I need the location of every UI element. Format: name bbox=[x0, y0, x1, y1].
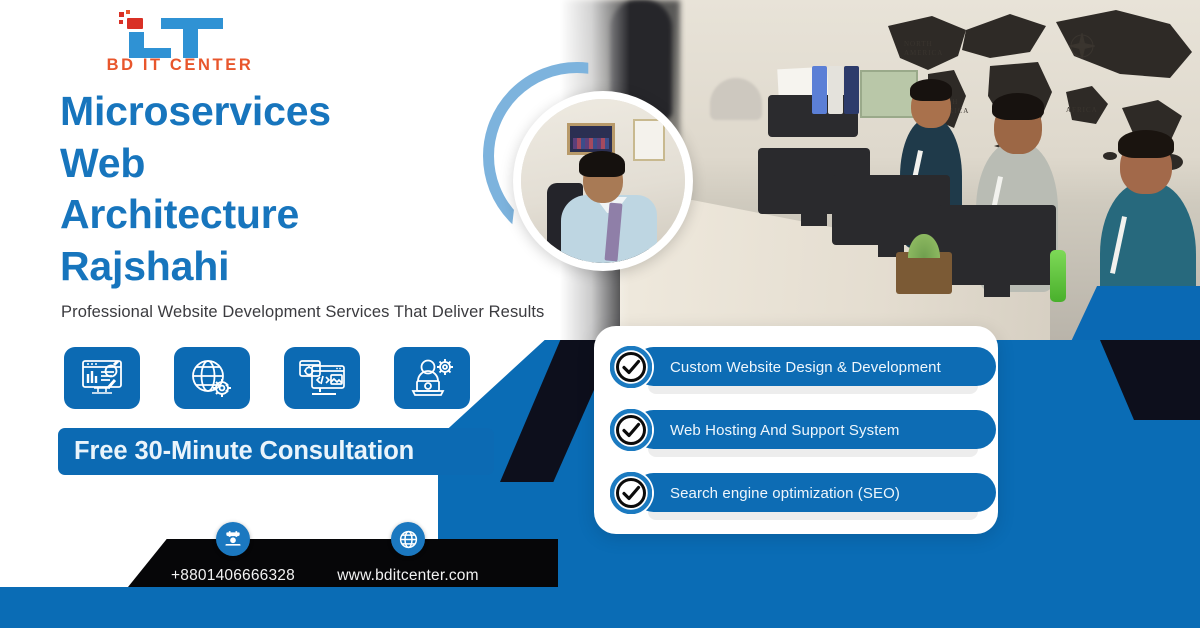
analytics-dashboard-wrench-icon bbox=[80, 359, 124, 397]
service-tile-analytics[interactable] bbox=[64, 347, 140, 409]
svg-text:AFRICA: AFRICA bbox=[1066, 106, 1098, 114]
office-bottle bbox=[1050, 250, 1066, 302]
feature-list-card: Custom Website Design & Development Web … bbox=[594, 326, 998, 534]
web-design-screens-icon bbox=[298, 358, 346, 398]
headline-line: Web bbox=[60, 140, 145, 186]
office-folder bbox=[828, 66, 843, 114]
pill-shadow bbox=[648, 386, 978, 394]
check-badge bbox=[608, 344, 654, 390]
svg-text:AMERICA: AMERICA bbox=[904, 49, 943, 57]
telephone-icon bbox=[223, 529, 243, 549]
check-circle-icon bbox=[610, 346, 652, 388]
office-folder bbox=[844, 66, 859, 114]
pill-shadow bbox=[648, 449, 978, 457]
feature-label: Custom Website Design & Development bbox=[670, 359, 941, 376]
portrait-image bbox=[521, 99, 685, 263]
lt-monogram-icon bbox=[117, 10, 229, 60]
website-badge bbox=[391, 522, 425, 556]
promotional-banner: NORTHAMERICA SOUTHAMERICA AFRICA OCEANIA bbox=[0, 0, 1200, 628]
pill-shadow bbox=[648, 512, 978, 520]
phone-number: +8801406666328 bbox=[170, 567, 296, 585]
check-circle-icon bbox=[610, 409, 652, 451]
feature-item[interactable]: Web Hosting And Support System bbox=[608, 407, 984, 453]
page-subtitle: Professional Website Development Service… bbox=[61, 303, 581, 322]
headline-line: Rajshahi bbox=[60, 243, 229, 289]
portrait-wall-photo bbox=[567, 123, 615, 155]
check-circle-icon bbox=[610, 472, 652, 514]
feature-item[interactable]: Custom Website Design & Development bbox=[608, 344, 984, 390]
portrait-certificate bbox=[633, 119, 665, 161]
brand-logo[interactable]: BD IT CENTER bbox=[95, 6, 265, 78]
support-agent-laptop-icon bbox=[410, 358, 454, 398]
service-tile-global[interactable] bbox=[174, 347, 250, 409]
service-icon-row bbox=[64, 347, 470, 409]
team-member-portrait bbox=[513, 91, 693, 271]
cta-consultation-button[interactable]: Free 30-Minute Consultation bbox=[58, 428, 494, 475]
service-tile-web-design[interactable] bbox=[284, 347, 360, 409]
check-badge bbox=[608, 407, 654, 453]
office-plant bbox=[896, 252, 952, 294]
website-url: www.bditcenter.com bbox=[333, 567, 483, 585]
headline-line: Microservices bbox=[60, 88, 331, 134]
svg-text:NORTH: NORTH bbox=[904, 40, 933, 48]
portrait-hair bbox=[579, 151, 625, 177]
office-folder bbox=[812, 66, 827, 114]
globe-gear-icon bbox=[190, 358, 234, 398]
bottom-blue-strip bbox=[0, 587, 1200, 628]
feature-label: Search engine optimization (SEO) bbox=[670, 485, 900, 502]
office-monitor bbox=[938, 205, 1056, 285]
service-tile-support[interactable] bbox=[394, 347, 470, 409]
logo-wordmark: BD IT CENTER bbox=[95, 56, 265, 75]
telephone-badge bbox=[216, 522, 250, 556]
globe-icon bbox=[398, 529, 419, 550]
contact-website[interactable]: www.bditcenter.com bbox=[333, 522, 483, 585]
contact-phone[interactable]: +8801406666328 bbox=[170, 522, 296, 585]
check-badge bbox=[608, 470, 654, 516]
feature-item[interactable]: Search engine optimization (SEO) bbox=[608, 470, 984, 516]
page-title: Microservices Web Architecture Rajshahi bbox=[60, 86, 530, 293]
feature-label: Web Hosting And Support System bbox=[670, 422, 900, 439]
headline-line: Architecture bbox=[60, 191, 299, 237]
cta-label: Free 30-Minute Consultation bbox=[74, 437, 414, 466]
